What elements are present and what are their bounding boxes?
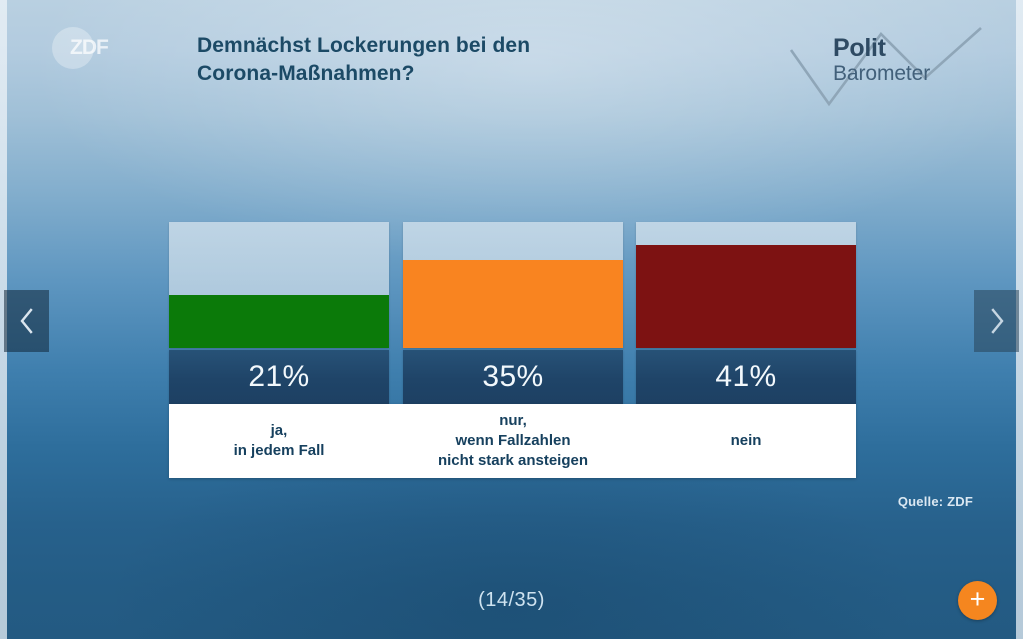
- bar-frame-2: [636, 222, 856, 348]
- zdf-logo-text: ZDF: [70, 36, 108, 60]
- plus-icon: +: [970, 586, 986, 613]
- politbarometer-wordmark: Polit Barometer: [833, 36, 930, 84]
- bar-frame-1: [403, 222, 623, 348]
- politbarometer-word-bottom: Barometer: [833, 63, 930, 84]
- value-box-0: 21%: [169, 350, 389, 404]
- chevron-right-icon: [988, 307, 1006, 335]
- prev-slide-button[interactable]: [4, 290, 49, 352]
- next-slide-button[interactable]: [974, 290, 1019, 352]
- value-box-1: 35%: [403, 350, 623, 404]
- value-label-0: 21%: [248, 360, 309, 394]
- bar-fill-0: [169, 295, 389, 348]
- politbarometer-logo: Polit Barometer: [785, 22, 995, 108]
- chevron-left-icon: [18, 307, 36, 335]
- value-label-2: 41%: [715, 360, 776, 394]
- bar-fill-2: [636, 245, 856, 348]
- politbarometer-word-top: Polit: [833, 36, 930, 61]
- category-label-1: nur, wenn Fallzahlen nicht stark ansteig…: [403, 404, 623, 478]
- category-label-band: ja, in jedem Fall nur, wenn Fallzahlen n…: [169, 404, 856, 478]
- bar-frame-0: [169, 222, 389, 348]
- politbarometer-slide: ZDF Demnächst Lockerungen bei den Corona…: [0, 0, 1023, 639]
- category-label-0: ja, in jedem Fall: [169, 404, 389, 478]
- page-title: Demnächst Lockerungen bei den Corona-Maß…: [197, 32, 617, 87]
- source-label: Quelle: ZDF: [898, 494, 973, 509]
- zdf-logo: ZDF: [52, 27, 120, 69]
- bar-fill-1: [403, 260, 623, 348]
- add-button[interactable]: +: [958, 581, 997, 620]
- value-box-2: 41%: [636, 350, 856, 404]
- category-label-2: nein: [636, 404, 856, 478]
- value-label-1: 35%: [482, 360, 543, 394]
- pagination-indicator: (14/35): [0, 589, 1023, 612]
